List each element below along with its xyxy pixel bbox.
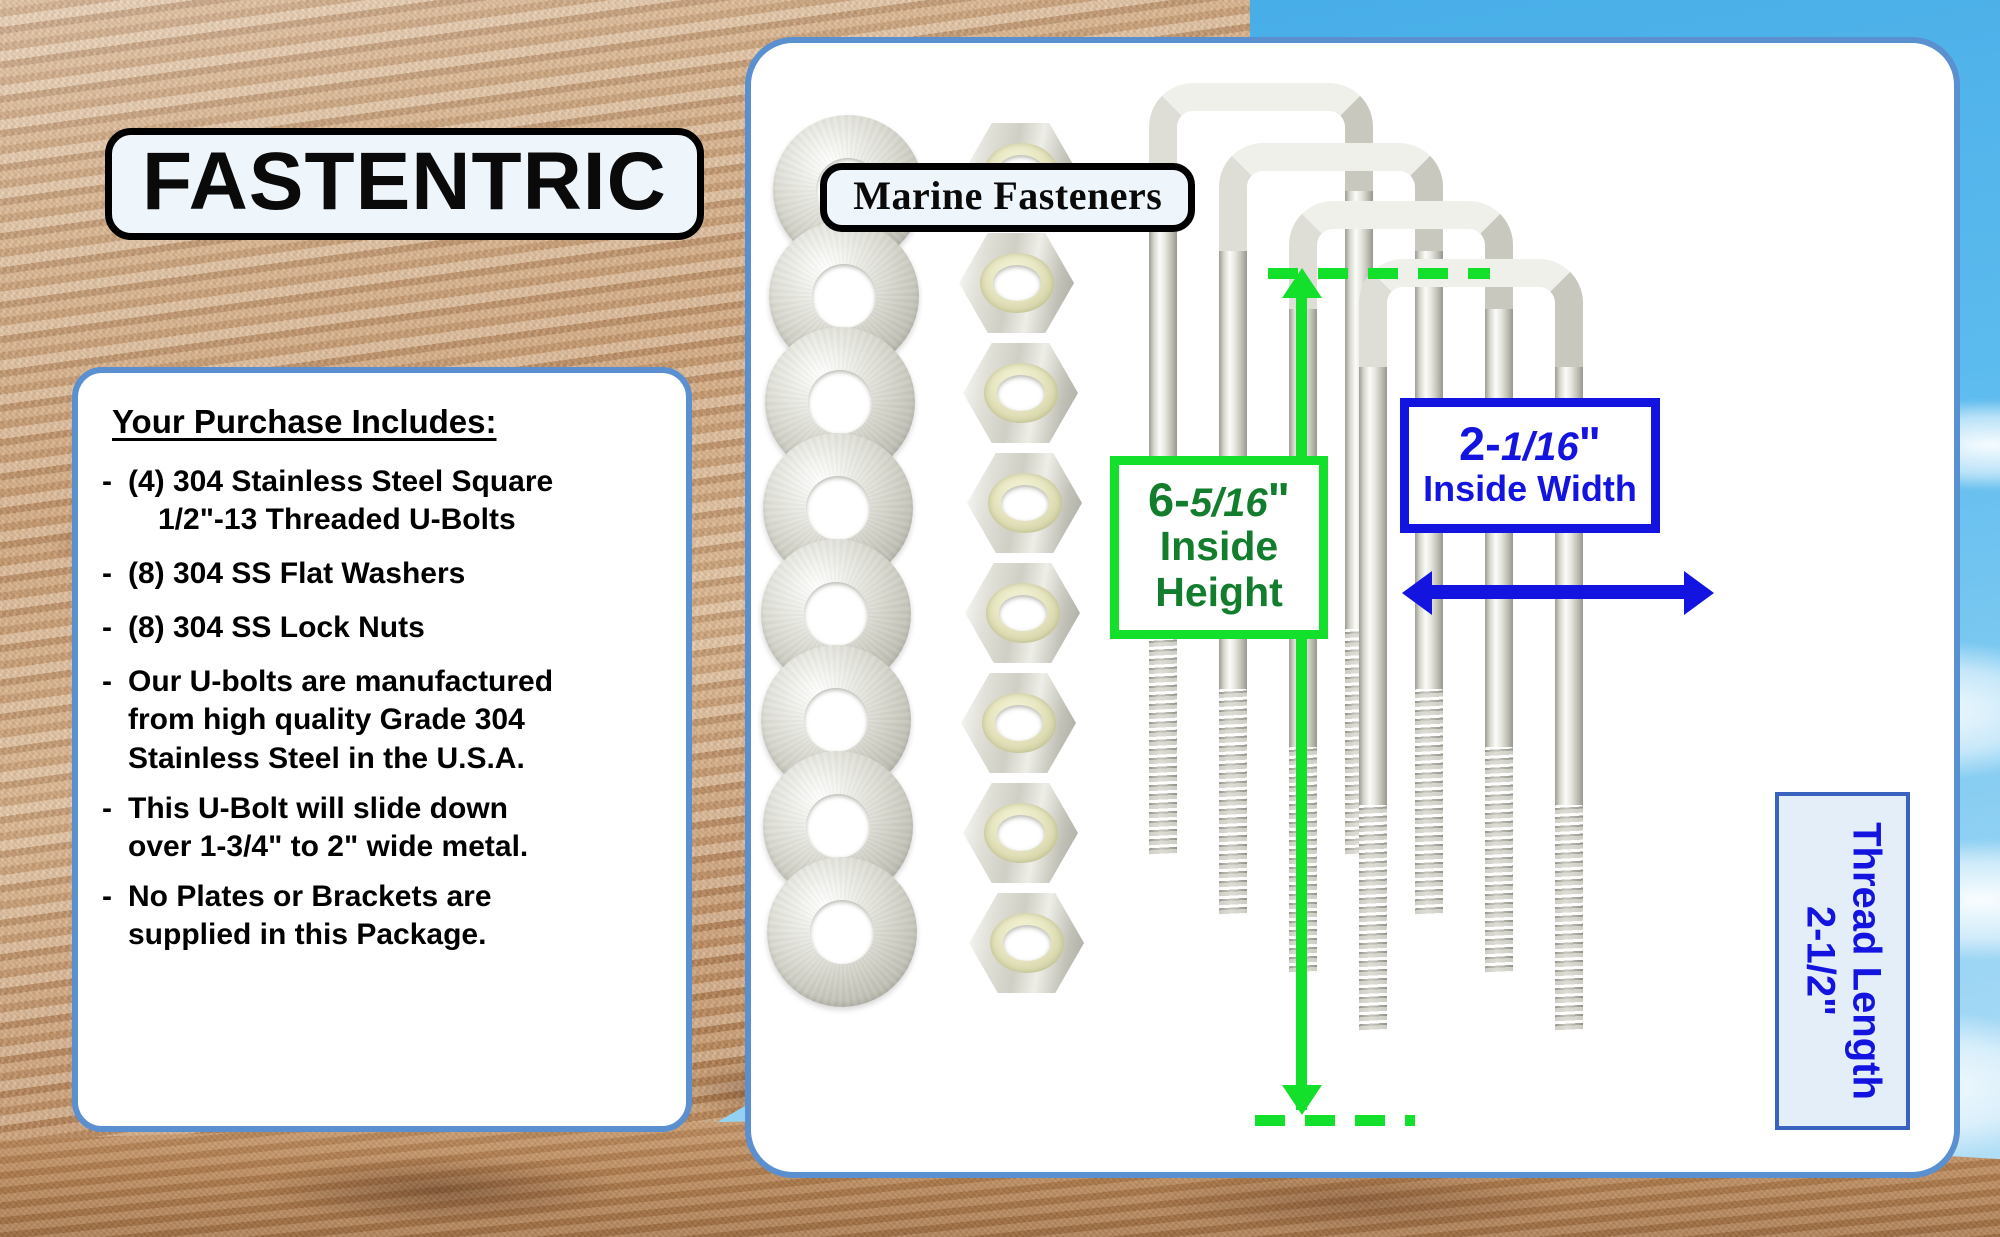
bullet-line-2: supplied in this Package. bbox=[128, 916, 668, 954]
u-bolt-leg-threaded bbox=[1219, 689, 1247, 915]
height-arrow-up-icon bbox=[1282, 268, 1322, 298]
nylon-lock-nut bbox=[963, 783, 1078, 883]
width-value-whole: 2- bbox=[1459, 417, 1501, 470]
nut-hole bbox=[997, 375, 1045, 411]
brand-logo: FASTENTRIC Marine Fasteners bbox=[105, 128, 1195, 240]
width-dimension-line bbox=[1432, 585, 1684, 599]
bullet-dash: - bbox=[102, 663, 128, 777]
nylon-lock-nut bbox=[967, 453, 1082, 553]
bullet-text: (4) 304 Stainless Steel Square 1/2"-13 T… bbox=[128, 463, 668, 539]
nylon-lock-nut bbox=[959, 233, 1074, 333]
thread-length-label: Thread Length bbox=[1843, 822, 1889, 1100]
height-dimension-line bbox=[1296, 295, 1307, 1110]
height-bottom-reference-line bbox=[1255, 1115, 1415, 1126]
bullet-dash: - bbox=[102, 878, 128, 954]
bullet-dash: - bbox=[102, 463, 128, 539]
bullet-text: (8) 304 SS Flat Washers bbox=[128, 555, 668, 593]
bullet-line-2: from high quality Grade 304 bbox=[128, 701, 668, 739]
inside-height-value: 6-5/16" bbox=[1125, 475, 1313, 524]
nylon-lock-nut bbox=[963, 343, 1078, 443]
inside-width-label: Inside Width bbox=[1417, 468, 1643, 509]
inside-height-label-1: Inside bbox=[1125, 524, 1313, 570]
height-value-whole: 6- bbox=[1148, 473, 1190, 526]
inside-width-callout: 2-1/16" Inside Width bbox=[1400, 398, 1660, 533]
nylon-lock-nut bbox=[969, 893, 1084, 993]
bullet-dash: - bbox=[102, 609, 128, 647]
bullet-line-2: 1/2"-13 Threaded U-Bolts bbox=[128, 501, 668, 539]
width-value-unit: " bbox=[1579, 417, 1601, 470]
bullet-text: (8) 304 SS Lock Nuts bbox=[128, 609, 668, 647]
logo-tagline-box: Marine Fasteners bbox=[820, 163, 1195, 232]
bullet-text: Our U-bolts are manufactured from high q… bbox=[128, 663, 668, 777]
logo-wordmark-box: FASTENTRIC bbox=[105, 128, 704, 240]
width-arrow-right-icon bbox=[1684, 571, 1714, 615]
thread-length-callout: Thread Length 2-1/2" bbox=[1775, 792, 1910, 1130]
bullet-text: No Plates or Brackets are supplied in th… bbox=[128, 878, 668, 954]
list-item: - Our U-bolts are manufactured from high… bbox=[102, 663, 668, 777]
nut-hole bbox=[1001, 485, 1049, 521]
bullet-text: This U-Bolt will slide down over 1-3/4" … bbox=[128, 790, 668, 866]
bullet-line-2: over 1-3/4" to 2" wide metal. bbox=[128, 828, 668, 866]
list-item: - (8) 304 SS Flat Washers bbox=[102, 555, 668, 593]
nut-hole bbox=[1003, 925, 1051, 961]
height-value-fraction: 5/16 bbox=[1190, 481, 1268, 525]
purchase-includes-panel: Your Purchase Includes: - (4) 304 Stainl… bbox=[72, 367, 692, 1132]
height-value-unit: " bbox=[1268, 473, 1290, 526]
flat-washer bbox=[767, 857, 917, 1007]
bullet-line-1: No Plates or Brackets are bbox=[128, 880, 492, 913]
nut-hole bbox=[993, 265, 1041, 301]
u-bolt-leg-threaded bbox=[1485, 747, 1513, 973]
inside-height-label-2: Height bbox=[1125, 570, 1313, 616]
purchase-panel-title: Your Purchase Includes: bbox=[112, 403, 668, 441]
thread-length-value: 2-1/2" bbox=[1796, 822, 1842, 1100]
list-item: - (4) 304 Stainless Steel Square 1/2"-13… bbox=[102, 463, 668, 539]
washer-grain bbox=[767, 857, 917, 1007]
bullet-dash: - bbox=[102, 555, 128, 593]
logo-tagline: Marine Fasteners bbox=[853, 172, 1162, 219]
u-bolt-leg-plain bbox=[1359, 367, 1387, 807]
nut-hole bbox=[997, 815, 1045, 851]
bullet-line-1: Our U-bolts are manufactured bbox=[128, 665, 553, 698]
u-bolt-leg-threaded bbox=[1555, 805, 1583, 1031]
inside-height-callout: 6-5/16" Inside Height bbox=[1110, 456, 1328, 639]
u-bolt-leg-threaded bbox=[1149, 629, 1177, 855]
height-arrow-down-icon bbox=[1282, 1085, 1322, 1115]
nut-hole bbox=[999, 595, 1047, 631]
nylon-lock-nut bbox=[965, 563, 1080, 663]
list-item: - This U-Bolt will slide down over 1-3/4… bbox=[102, 790, 668, 866]
bullet-line-1: This U-Bolt will slide down bbox=[128, 792, 508, 825]
thread-length-text: Thread Length 2-1/2" bbox=[1796, 822, 1889, 1100]
width-arrow-left-icon bbox=[1402, 571, 1432, 615]
u-bolt-leg-threaded bbox=[1415, 689, 1443, 915]
width-value-fraction: 1/16 bbox=[1501, 425, 1579, 469]
nylon-lock-nut bbox=[961, 673, 1076, 773]
list-item: - (8) 304 SS Lock Nuts bbox=[102, 609, 668, 647]
bullet-line-3: Stainless Steel in the U.S.A. bbox=[128, 740, 668, 778]
bullet-dash: - bbox=[102, 790, 128, 866]
logo-wordmark: FASTENTRIC bbox=[142, 141, 667, 223]
u-bolt-leg-threaded bbox=[1359, 805, 1387, 1031]
nut-hole bbox=[995, 705, 1043, 741]
bullet-line-1: (4) 304 Stainless Steel Square bbox=[128, 465, 553, 498]
inside-width-value: 2-1/16" bbox=[1417, 419, 1643, 468]
list-item: - No Plates or Brackets are supplied in … bbox=[102, 878, 668, 954]
